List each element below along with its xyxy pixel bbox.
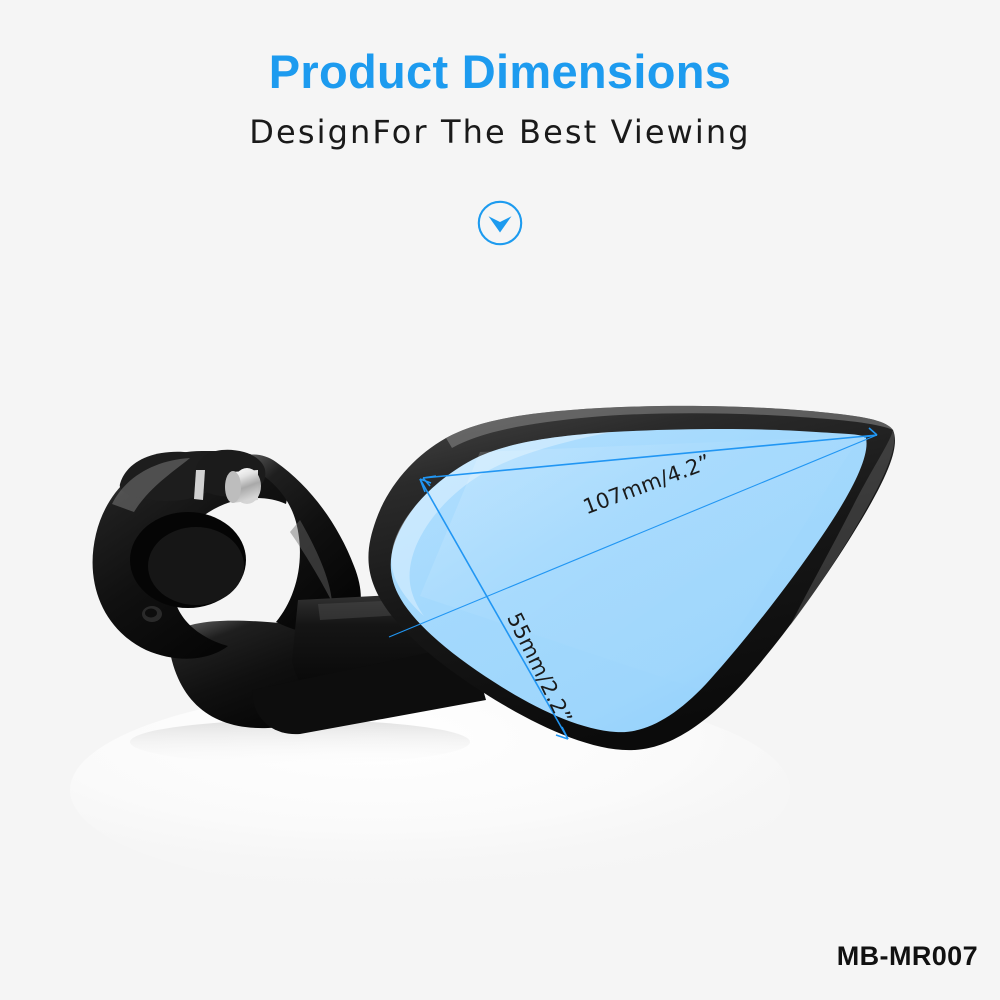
mirror-arm [292, 592, 470, 701]
clamp-screw [142, 606, 162, 622]
dimension-label-width: 107mm/4.2” [580, 450, 714, 520]
clamp-wing [232, 455, 361, 635]
page-subtitle: DesignFor The Best Viewing [0, 99, 1000, 151]
handlebar-clamp [93, 450, 361, 728]
contact-shadow [130, 720, 470, 764]
dimension-arrow-width-left [423, 476, 436, 486]
page-title: Product Dimensions [0, 0, 1000, 99]
dimension-label-height: 55mm/2.2” [502, 609, 577, 728]
glass-inner-shadow [391, 432, 612, 616]
mirror-arm-lower [252, 644, 486, 734]
chevron-down-circle-icon [477, 200, 523, 246]
mirror-frame [368, 406, 895, 750]
clamp-gap [194, 470, 205, 500]
dimension-arrow-width-right [864, 428, 877, 437]
clamp-highlight-top [112, 458, 190, 512]
clamp-highlight-right [290, 520, 332, 602]
dimension-arrow-height-bottom [556, 727, 568, 739]
header-block: Product Dimensions DesignFor The Best Vi… [0, 0, 1000, 151]
dimension-arrow-height-top [420, 479, 431, 492]
mirror-frame-highlight [446, 406, 893, 448]
badge-container [0, 200, 1000, 246]
mirror-arm-highlight [318, 598, 452, 620]
clamp-ring [93, 451, 287, 659]
dimension-lines [389, 428, 877, 739]
floor-reflection [70, 685, 790, 895]
dimension-line-reference [389, 435, 877, 637]
pivot-base [168, 621, 352, 729]
clamp-bore-shade [148, 527, 244, 605]
clamp-bolt [225, 468, 261, 504]
model-code: MB-MR007 [837, 941, 978, 972]
mirror-frame-highlight-right [790, 430, 894, 626]
clamp-lug-left [120, 452, 219, 501]
clamp-bore [130, 512, 246, 608]
mirror-glass [391, 429, 867, 732]
product-dimensions-page: Product Dimensions DesignFor The Best Vi… [0, 0, 1000, 1000]
clamp-screw-slot [145, 609, 157, 618]
clamp-lug-right [195, 450, 265, 497]
glass-sheen [420, 436, 860, 690]
dimension-line-height [420, 479, 568, 739]
dimension-line-width [423, 435, 877, 478]
